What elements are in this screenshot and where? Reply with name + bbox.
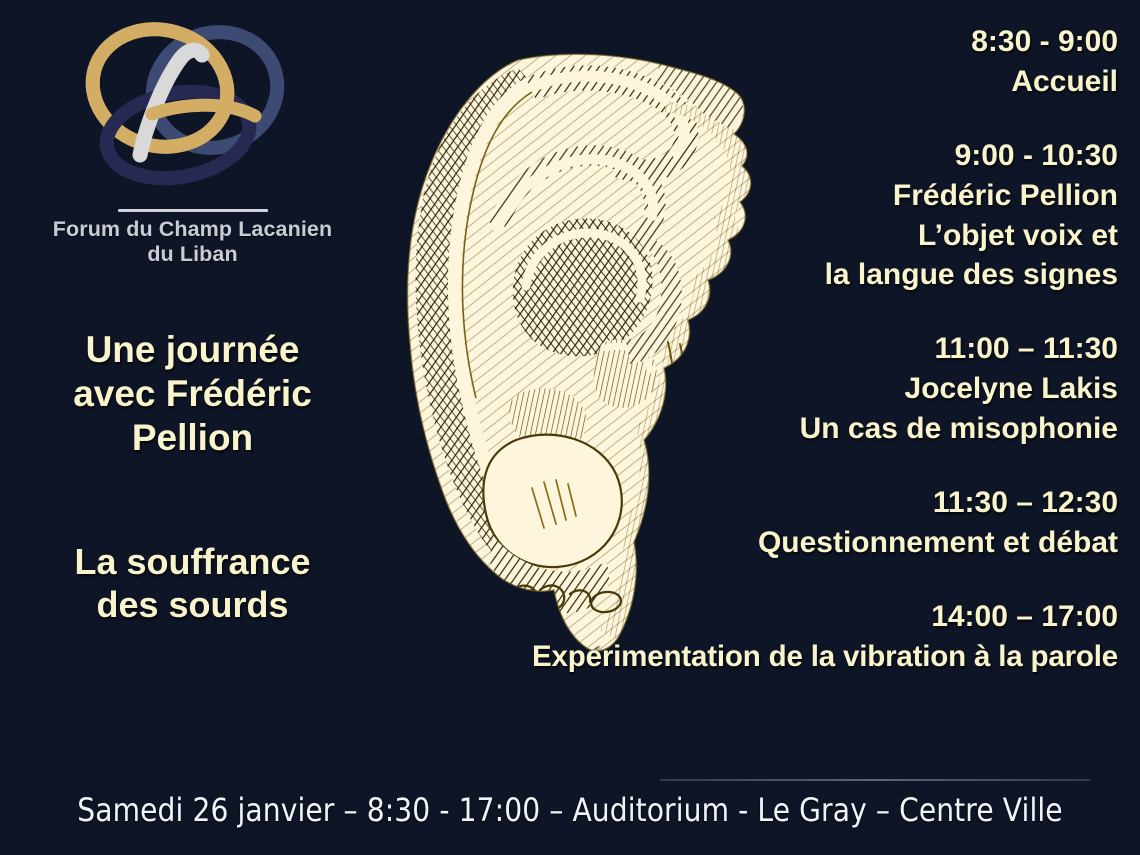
organization-name: Forum du Champ Lacanien du Liban	[20, 217, 365, 268]
footer-divider-rule	[660, 779, 1090, 781]
schedule-time: 9:00 - 10:30	[518, 136, 1118, 176]
event-subtitle-line1: La souffrance	[20, 540, 365, 583]
schedule-item: 14:00 – 17:00 Expérimentation de la vibr…	[518, 597, 1118, 677]
schedule-item: 11:30 – 12:30 Questionnement et débat	[518, 483, 1118, 563]
schedule-detail: Questionnement et débat	[518, 523, 1118, 563]
organization-name-line2: du Liban	[20, 242, 365, 267]
organization-logo-block: Forum du Champ Lacanien du Liban	[20, 18, 365, 268]
poster-canvas: Forum du Champ Lacanien du Liban Une jou…	[0, 0, 1140, 855]
schedule-detail: L’objet voix et	[518, 216, 1118, 256]
event-subtitle: La souffrance des sourds	[20, 540, 365, 626]
event-title-line3: Pellion	[20, 416, 365, 460]
schedule-item: 11:00 – 11:30 Jocelyne Lakis Un cas de m…	[518, 329, 1118, 449]
event-subtitle-line2: des sourds	[20, 583, 365, 626]
schedule-time: 8:30 - 9:00	[518, 22, 1118, 62]
schedule-item: 8:30 - 9:00 Accueil	[518, 22, 1118, 102]
event-title: Une journée avec Frédéric Pellion	[20, 328, 365, 460]
borromean-knot-logo-icon	[20, 18, 365, 203]
schedule-time: 14:00 – 17:00	[518, 597, 1118, 637]
schedule-time: 11:00 – 11:30	[518, 329, 1118, 369]
logo-divider-rule	[118, 209, 268, 212]
schedule-speaker: Frédéric Pellion	[518, 176, 1118, 216]
schedule-item: 9:00 - 10:30 Frédéric Pellion L’objet vo…	[518, 136, 1118, 296]
schedule-detail: Expérimentation de la vibration à la par…	[527, 637, 1118, 677]
event-title-line1: Une journée	[20, 328, 365, 372]
schedule-detail: Accueil	[518, 62, 1118, 102]
event-title-line2: avec Frédéric	[20, 372, 365, 416]
event-venue-info: Samedi 26 janvier – 8:30 - 17:00 – Audit…	[68, 790, 1071, 830]
schedule-detail: Un cas de misophonie	[518, 409, 1118, 449]
organization-name-line1: Forum du Champ Lacanien	[20, 217, 365, 242]
schedule-time: 11:30 – 12:30	[518, 483, 1118, 523]
schedule-speaker: Jocelyne Lakis	[518, 369, 1118, 409]
schedule-detail: la langue des signes	[518, 255, 1118, 295]
schedule-list: 8:30 - 9:00 Accueil 9:00 - 10:30 Frédéri…	[518, 22, 1118, 677]
